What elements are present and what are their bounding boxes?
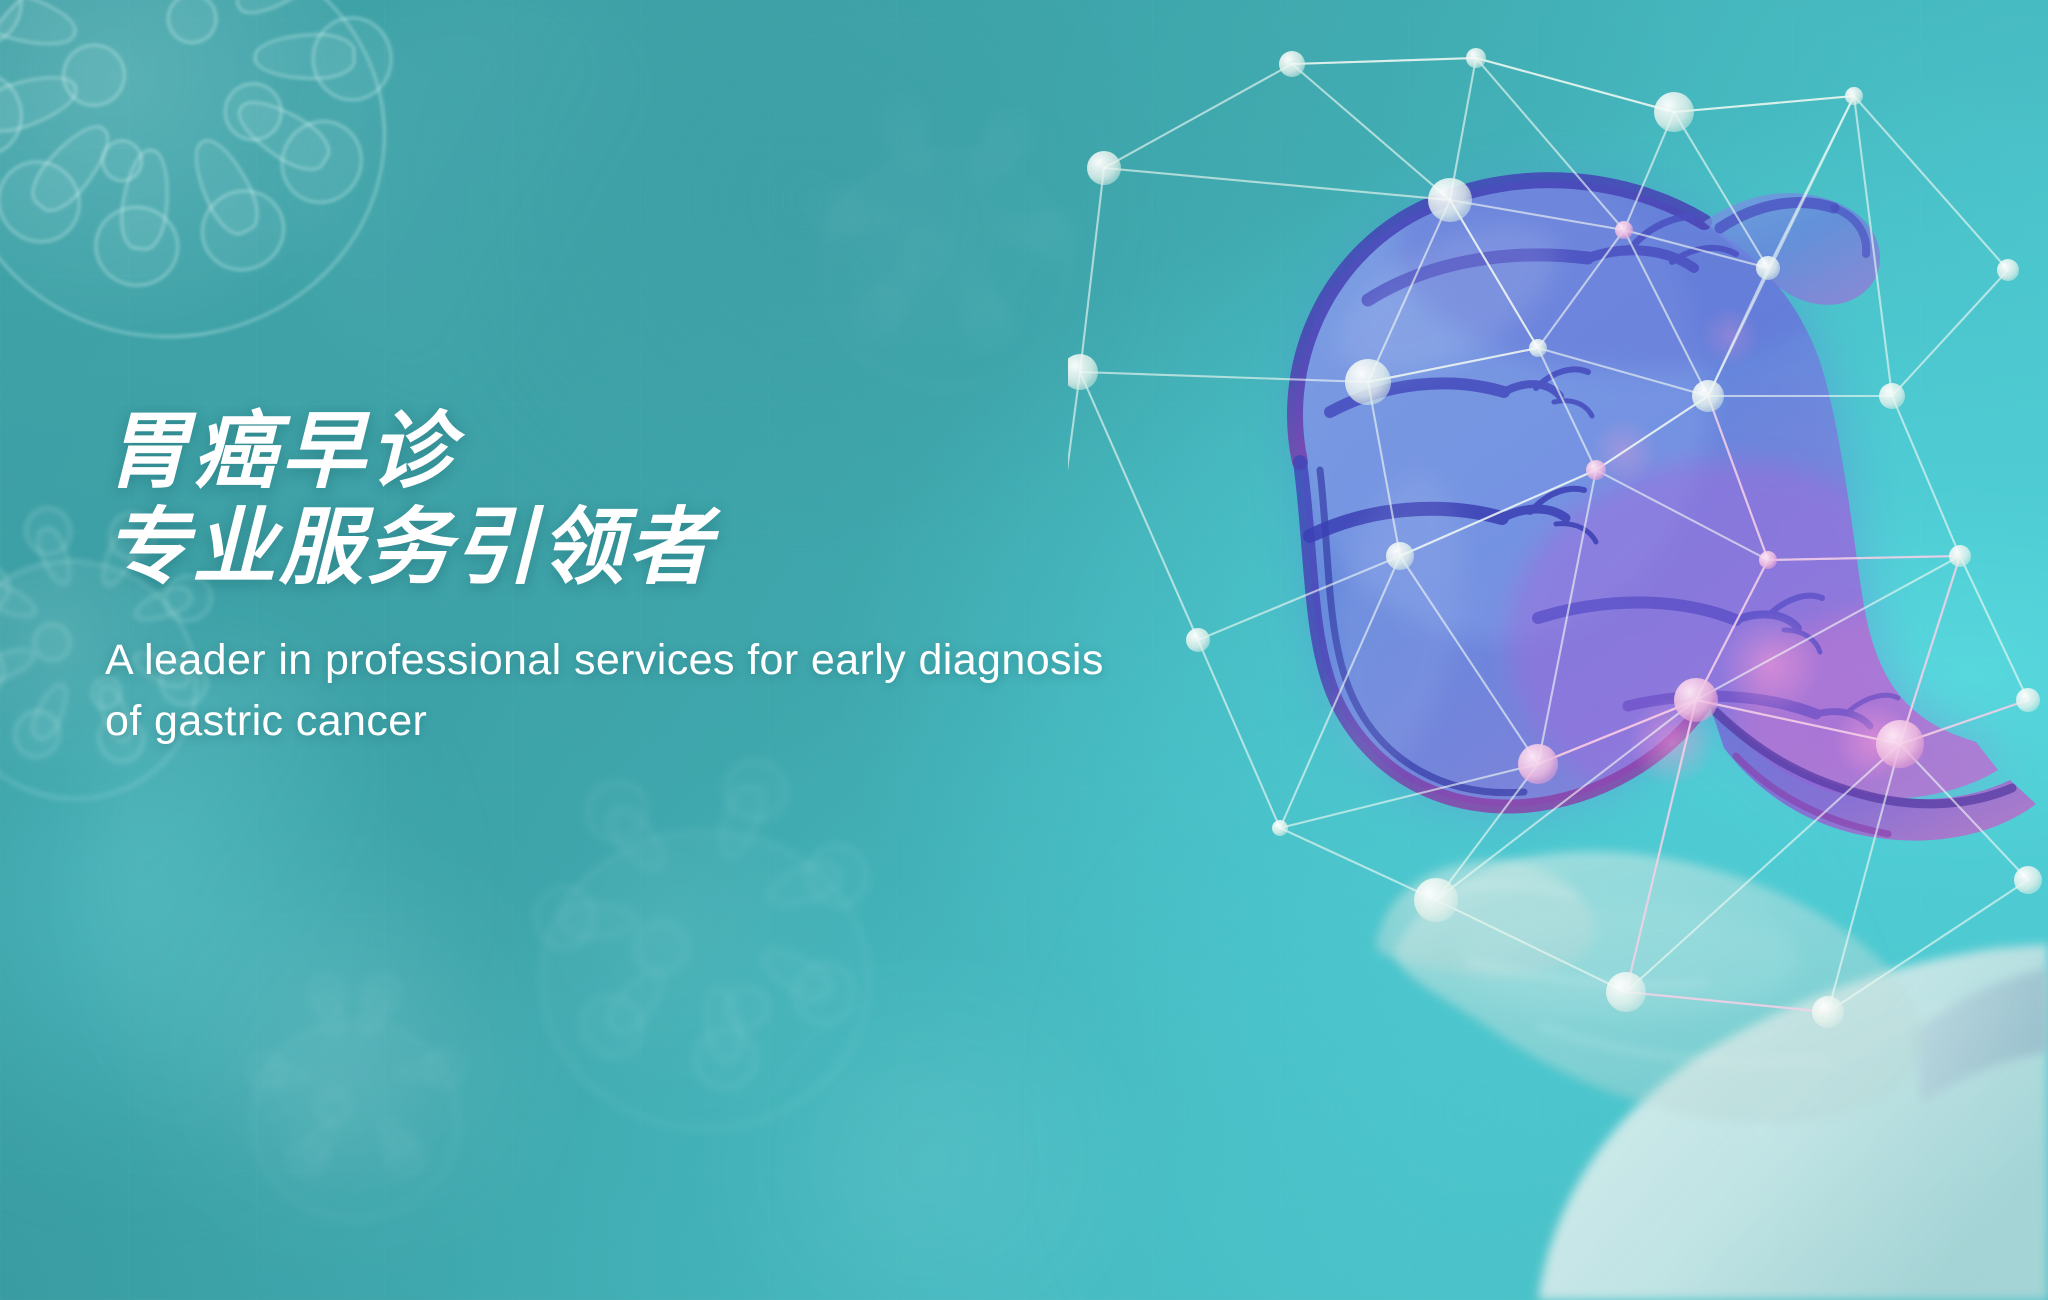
virus-icon: [0, 0, 406, 359]
subtitle: A leader in professional services for ea…: [105, 630, 1115, 752]
network-mesh: [1068, 58, 2028, 1012]
virus-icon: [540, 830, 870, 1130]
virus-icon: [250, 1020, 460, 1220]
hero-copy: 胃癌早诊 专业服务引领者 A leader in professional se…: [105, 404, 1185, 752]
background-haze: [700, 1000, 1160, 1300]
lab-coat-sleeve: [1538, 944, 2048, 1300]
headline-line-1: 胃癌早诊: [105, 404, 1185, 500]
hand-illustration: [1376, 851, 1923, 1124]
headline-line-2: 专业服务引领者: [105, 500, 1185, 596]
network-mesh-accent: [1538, 396, 2028, 1012]
background-haze: [140, 900, 560, 1200]
virus-icon: [820, 150, 1070, 390]
stomach-illustration: [1288, 130, 2038, 841]
network-nodes: [1068, 48, 2042, 1028]
background-streak: [300, 0, 720, 420]
background-blob: [1020, 760, 1920, 1300]
hero-banner: 胃癌早诊 专业服务引领者 A leader in professional se…: [0, 0, 2048, 1300]
hero-artwork: [1068, 0, 2048, 1300]
